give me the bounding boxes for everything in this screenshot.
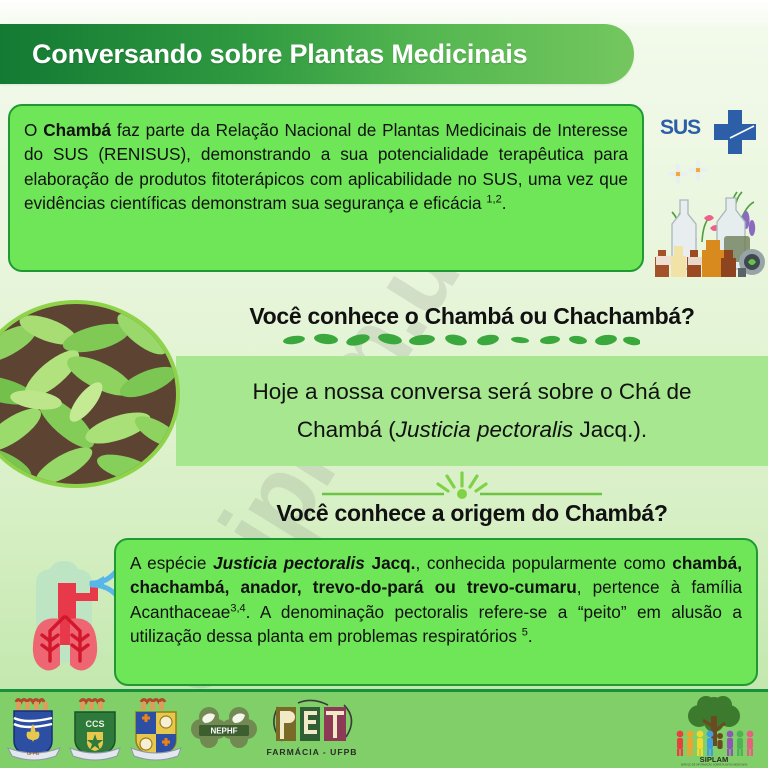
intro-reference: 1,2 [486,194,501,206]
page-title: Conversando sobre Plantas Medicinais [0,39,527,70]
origin-authority: Jacq. [365,553,416,573]
origin-lead: A espécie [130,553,213,573]
today-line2-post: Jacq.). [573,417,647,442]
question-two: Você conhece a origem do Chambá? [176,500,768,527]
today-line-2: Chambá (Justicia pectoralis Jacq.). [297,411,647,449]
svg-text:CCS: CCS [85,719,104,729]
sus-wordmark: SUS [660,116,700,140]
footer-bar: UFPB CCS [0,689,768,768]
siplam-logo: SIPLAM SERVIÇO DE INFORMAÇÃO SOBRE PLANT… [666,694,762,766]
origin-mid-1: , conhecida popularmente como [415,553,672,573]
leaf-divider-icon [280,330,640,350]
origin-ref-family: 3,4 [230,602,245,614]
question-one: Você conhece o Chambá ou Chachambá? [176,303,768,330]
footer-logo-group: UFPB CCS [6,696,360,762]
nephf-label: NEPHF [210,727,237,736]
intro-text-box: O Chambá faz parte da Relação Nacional d… [8,104,644,272]
nephf-logo: NEPHF [189,701,259,757]
lungs-respiratory-illustration [6,545,124,695]
intro-paragraph: O Chambá faz parte da Relação Nacional d… [24,118,628,216]
today-line-1: Hoje a nossa conversa será sobre o Chá d… [252,373,691,411]
today-topic-text: Hoje a nossa conversa será sobre o Chá d… [176,356,768,466]
ccs-shield-logo: CCS [67,696,123,762]
svg-text:UFPB: UFPB [27,751,39,756]
infographic-poster: @siplam.ufpb Conversando sobre Plantas M… [0,0,768,768]
intro-highlight-chamba: Chambá [43,120,111,140]
poster-title-banner: Conversando sobre Plantas Medicinais [0,24,634,84]
farmacia-shield-logo [128,696,184,762]
pet-sublabel: FARMÁCIA - UFPB [266,747,357,757]
today-line2-pre: Chambá ( [297,417,396,442]
chamba-plant-photo [0,300,180,488]
sparkle-divider-icon [312,468,612,502]
species-name-italic: Justicia pectoralis [396,417,574,442]
ufpb-shield-logo: UFPB [6,696,62,762]
herbal-bottles-illustration [654,158,768,278]
intro-seg-0: O [24,120,43,140]
intro-seg-4: . [502,193,507,213]
origin-end: . [528,626,533,646]
siplam-sublabel: SERVIÇO DE INFORMAÇÃO SOBRE PLANTAS MEDI… [681,764,748,767]
plant-leaves-illustration [0,304,176,484]
intro-seg-2: faz parte da Relação Nacional de Plantas… [24,120,628,213]
origin-text-box: A espécie Justicia pectoralis Jacq., con… [114,538,758,686]
origin-paragraph: A espécie Justicia pectoralis Jacq., con… [130,551,742,649]
origin-species: Justicia pectoralis [213,553,365,573]
sus-artwork: SUS [654,106,768,278]
today-topic-band: Hoje a nossa conversa será sobre o Chá d… [176,356,768,466]
pet-farmacia-logo: FARMÁCIA - UFPB [264,697,360,761]
sus-cross-icon [710,108,760,158]
